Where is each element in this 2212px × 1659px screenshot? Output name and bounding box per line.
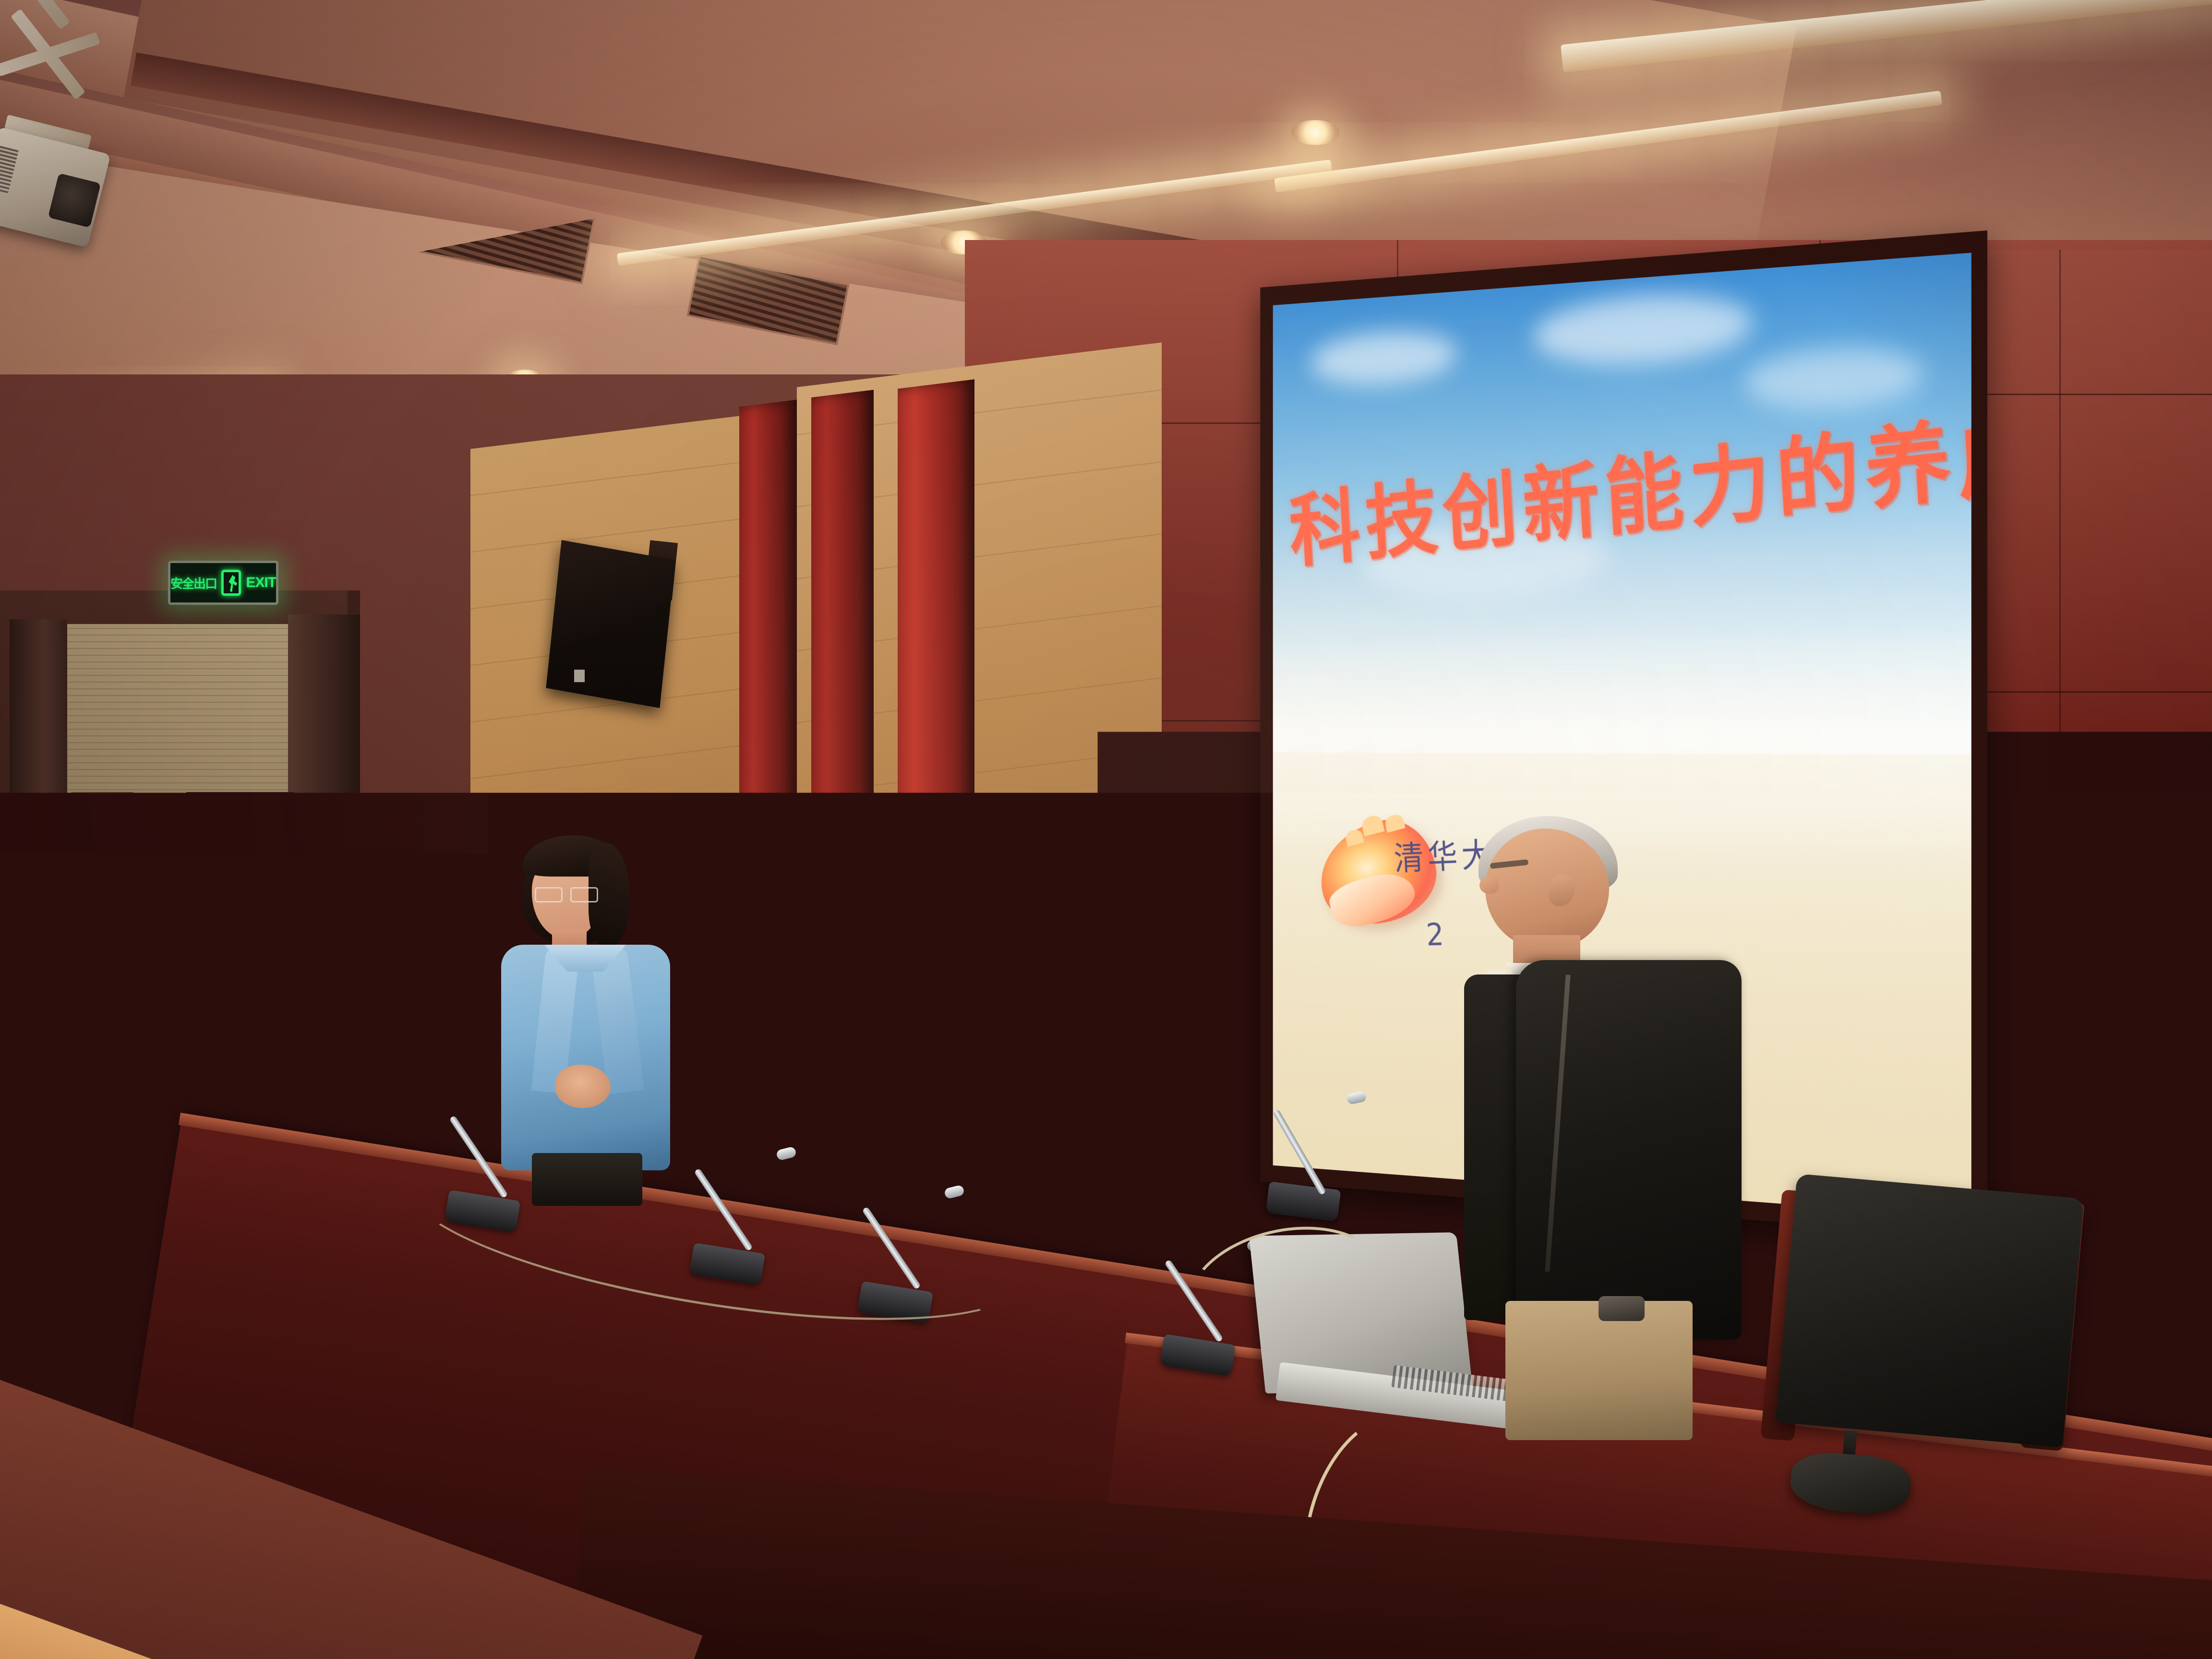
woman-presenter <box>494 835 686 1200</box>
poster-text-line <box>204 917 276 920</box>
stanchion-belt <box>240 1037 269 1133</box>
poster-text-line <box>204 970 272 973</box>
projector-vent-icon <box>0 145 19 193</box>
stanchion-cap <box>246 841 264 854</box>
lecture-hall-photo: 安全出口 EXIT 科技创新能力的养成 清华大学 2 <box>0 0 2212 1659</box>
man-belt-buckle <box>1599 1296 1645 1321</box>
wall-pilaster <box>898 379 974 1262</box>
door-leaf-left[interactable] <box>10 619 67 1176</box>
poster-text-line <box>204 891 276 894</box>
exit-sign-label-cn: 安全出口 <box>170 574 216 592</box>
woman-lower-garment <box>532 1153 642 1206</box>
poster-text-line <box>204 927 272 931</box>
man-speaker <box>1459 816 1757 1440</box>
poster-text-line <box>204 959 276 962</box>
wall-pilaster <box>811 390 874 1257</box>
executive-chair[interactable] <box>1775 1174 2084 1447</box>
downlight-icon <box>1291 120 1339 145</box>
slide-title: 科技创新能力的养成 <box>1286 390 1955 583</box>
speaker-indicator-icon <box>574 670 585 682</box>
slide-date: 2 <box>1425 916 1448 953</box>
wall-speaker <box>546 540 675 708</box>
man-nose <box>1479 877 1499 894</box>
wall-pilaster <box>739 400 797 1252</box>
notice-poster <box>191 798 289 1010</box>
woman-clasped-hands <box>555 1065 611 1108</box>
poster-text-line <box>204 870 275 873</box>
man-dark-jacket <box>1516 960 1742 1339</box>
woman-denim-jacket <box>501 945 670 1170</box>
running-person-icon <box>221 570 241 596</box>
exit-sign-label-en: EXIT <box>246 575 276 591</box>
corridor-wall-plaque <box>71 792 133 835</box>
door-leaf-right[interactable] <box>288 614 360 1181</box>
man-head <box>1485 829 1609 949</box>
poster-text-line <box>204 902 235 905</box>
camera-timestamp: 2014/09/26 14:31 <box>1435 1411 2066 1483</box>
emergency-exit-sign: 安全出口 EXIT <box>168 561 278 605</box>
eyeglasses-icon <box>535 887 598 900</box>
poster-text-line <box>204 938 276 941</box>
